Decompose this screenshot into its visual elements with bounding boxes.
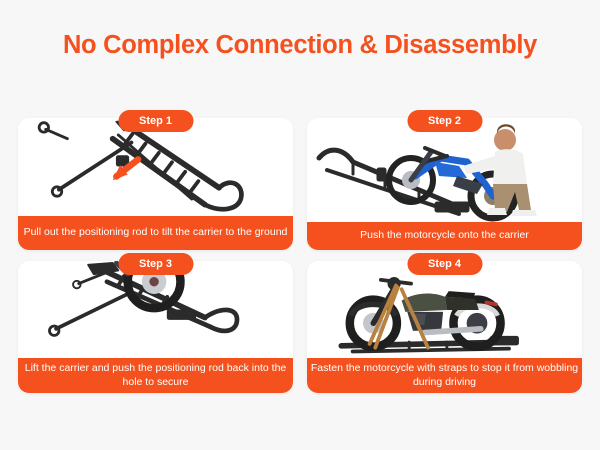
step-caption-1: Pull out the positioning rod to tilt the… (18, 216, 293, 250)
motorcycle-strapped-on-carrier-illustration (307, 261, 582, 359)
page-title: No Complex Connection & Disassembly (0, 0, 600, 61)
step-caption-2: Push the motorcycle onto the carrier (307, 222, 582, 250)
man-pushing-dirt-bike-onto-carrier-illustration (307, 118, 582, 222)
step-card-4[interactable]: Step 4 (307, 261, 582, 393)
steps-grid: Step 1 (18, 118, 582, 393)
step-card-2[interactable]: Step 2 (307, 118, 582, 250)
step-card-3[interactable]: Step 3 (18, 261, 293, 393)
step-image-1 (18, 118, 293, 216)
carrier-lifted-with-rod-reinserted-illustration (18, 261, 293, 359)
step-caption-3: Lift the carrier and push the positionin… (18, 358, 293, 393)
step-image-4 (307, 261, 582, 359)
step-badge-4: Step 4 (407, 253, 482, 275)
step-card-1[interactable]: Step 1 (18, 118, 293, 250)
step-image-3 (18, 261, 293, 359)
carrier-tilted-with-rod-pulled-out-illustration (18, 118, 293, 216)
step-badge-3: Step 3 (118, 253, 193, 275)
step-image-2 (307, 118, 582, 222)
step-badge-1: Step 1 (118, 110, 193, 132)
step-badge-2: Step 2 (407, 110, 482, 132)
step-caption-4: Fasten the motorcycle with straps to sto… (307, 358, 582, 393)
